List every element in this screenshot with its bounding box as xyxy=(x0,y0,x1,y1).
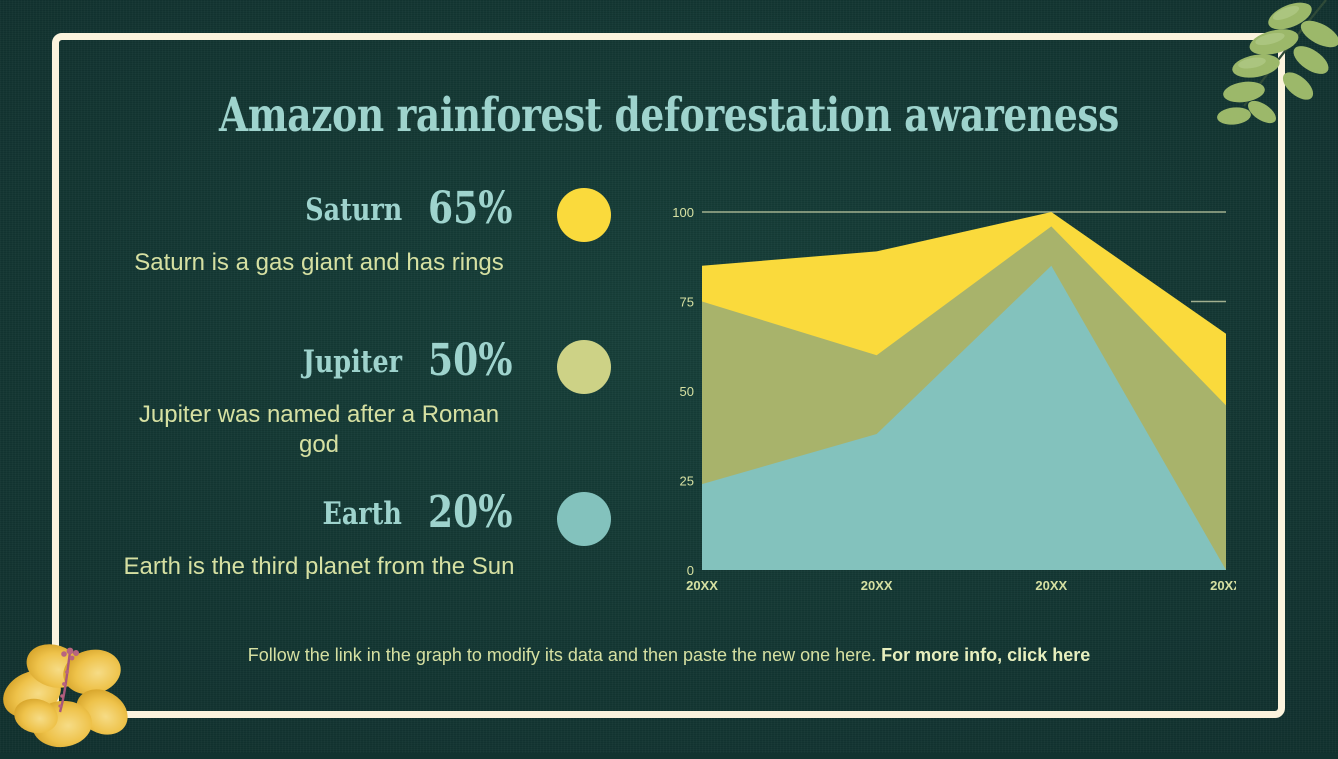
stat-header: Earth 20% xyxy=(120,490,640,552)
stat-color-dot xyxy=(557,340,611,394)
stat-percentage: 20% xyxy=(428,487,512,538)
x-tick-label: 20XX xyxy=(1210,578,1236,593)
y-tick-label: 0 xyxy=(687,563,694,578)
y-tick-label: 75 xyxy=(680,295,694,310)
stat-percentage: 65% xyxy=(428,183,512,234)
stat-header: Saturn 65% xyxy=(120,186,640,248)
stat-label: Saturn xyxy=(305,192,402,228)
stat-color-dot xyxy=(557,188,611,242)
footer-note: Follow the link in the graph to modify i… xyxy=(0,645,1338,666)
footer-link[interactable]: For more info, click here xyxy=(881,645,1090,665)
stat-item-jupiter: Jupiter 50% Jupiter was named after a Ro… xyxy=(120,338,640,490)
y-tick-label: 100 xyxy=(672,205,694,220)
x-tick-label: 20XX xyxy=(686,578,718,593)
x-tick-label: 20XX xyxy=(861,578,893,593)
leaf-branch-icon xyxy=(1178,0,1338,164)
slide-canvas: Amazon rainforest deforestation awarenes… xyxy=(0,0,1338,753)
stat-item-saturn: Saturn 65% Saturn is a gas giant and has… xyxy=(120,186,640,338)
x-tick-label: 20XX xyxy=(1035,578,1067,593)
area-chart[interactable]: 0255075100 20XX20XX20XX20XX xyxy=(666,196,1236,596)
stat-color-dot xyxy=(557,492,611,546)
stat-label: Earth xyxy=(323,496,402,532)
stats-list: Saturn 65% Saturn is a gas giant and has… xyxy=(120,186,640,626)
footer-text: Follow the link in the graph to modify i… xyxy=(248,645,876,665)
stat-percentage: 50% xyxy=(428,335,512,386)
page-title: Amazon rainforest deforestation awarenes… xyxy=(134,88,1204,143)
stat-header: Jupiter 50% xyxy=(120,338,640,400)
stat-label: Jupiter xyxy=(303,344,402,380)
y-tick-label: 25 xyxy=(680,474,694,489)
stat-item-earth: Earth 20% Earth is the third planet from… xyxy=(120,490,640,642)
stat-description: Jupiter was named after a Roman god xyxy=(120,400,518,460)
chart-svg: 0255075100 20XX20XX20XX20XX xyxy=(666,196,1236,596)
chart-x-axis-labels: 20XX20XX20XX20XX xyxy=(686,578,1236,593)
chart-y-axis-labels: 0255075100 xyxy=(672,205,694,578)
chart-series-areas xyxy=(702,212,1226,570)
y-tick-label: 50 xyxy=(680,384,694,399)
hibiscus-flower-icon xyxy=(0,624,182,759)
stat-description: Earth is the third planet from the Sun xyxy=(120,552,518,582)
stat-description: Saturn is a gas giant and has rings xyxy=(120,248,518,278)
